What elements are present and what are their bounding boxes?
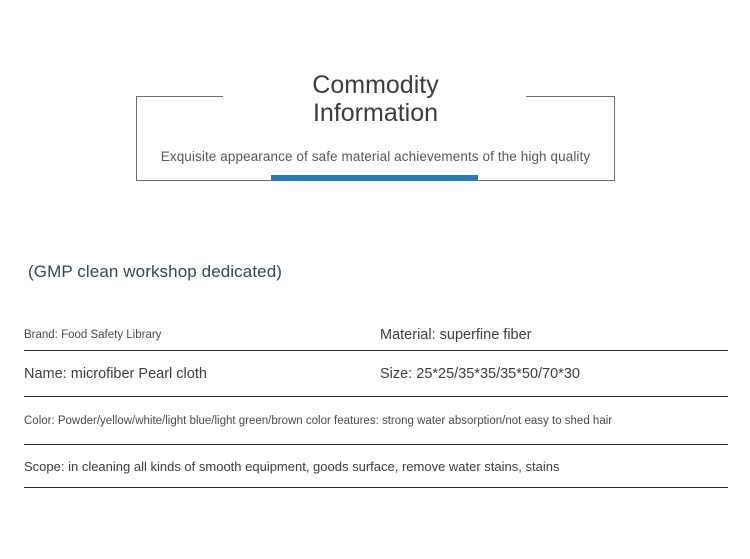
spec-size: Size: 25*25/35*35/35*50/70*30 <box>380 366 728 382</box>
spec-color: Color: Powder/yellow/white/light blue/li… <box>24 415 728 427</box>
banner-top-left-rule <box>136 96 223 97</box>
banner-left-rule <box>136 96 137 181</box>
specification-table: Brand: Food Safety Library Material: sup… <box>24 320 728 488</box>
commodity-information-banner: Commodity Information Exquisite appearan… <box>136 96 615 181</box>
banner-top-right-rule <box>515 96 615 97</box>
table-row: Brand: Food Safety Library Material: sup… <box>24 320 728 351</box>
spec-brand: Brand: Food Safety Library <box>24 329 380 341</box>
table-row: Scope: in cleaning all kinds of smooth e… <box>24 445 728 488</box>
gmp-note: (GMP clean workshop dedicated) <box>28 262 282 282</box>
page-subtitle: Exquisite appearance of safe material ac… <box>136 149 615 164</box>
spec-material: Material: superfine fiber <box>380 327 728 343</box>
spec-scope: Scope: in cleaning all kinds of smooth e… <box>24 459 728 474</box>
table-row: Name: microfiber Pearl cloth Size: 25*25… <box>24 351 728 397</box>
spec-name: Name: microfiber Pearl cloth <box>24 366 380 382</box>
banner-accent-bar <box>271 175 478 181</box>
page-title: Commodity Information <box>226 71 526 127</box>
table-row: Color: Powder/yellow/white/light blue/li… <box>24 397 728 445</box>
banner-right-rule <box>614 96 615 181</box>
